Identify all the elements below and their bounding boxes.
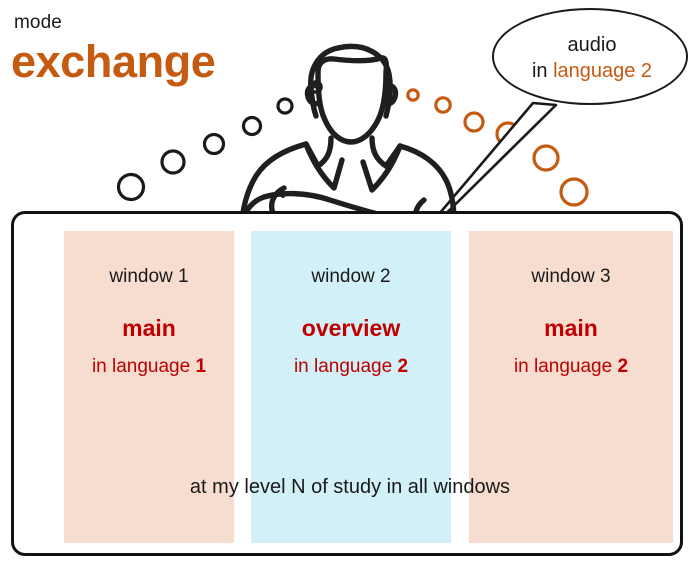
- level-note: at my level N of study in all windows: [14, 476, 686, 499]
- orange-thought-bubbles: [408, 90, 587, 205]
- diagram-canvas: mode exchange: [0, 0, 694, 564]
- window-1-language: in language 1: [64, 357, 234, 378]
- speech-bubble-text: audio in language 2: [494, 10, 690, 107]
- window-2-kind: overview: [251, 316, 451, 341]
- speech-bubble-line-2-highlight: language 2: [553, 60, 652, 82]
- window-3-title: window 3: [469, 267, 673, 288]
- window-3-kind: main: [469, 316, 673, 341]
- window-3-language-number: 2: [617, 356, 628, 377]
- mode-kicker-label: mode: [14, 12, 62, 34]
- window-3-language: in language 2: [469, 357, 673, 378]
- speech-bubble-line-2-prefix: in: [532, 60, 553, 82]
- audio-speech-bubble: audio in language 2: [492, 8, 688, 105]
- speech-bubble-line-2: in language 2: [532, 59, 652, 85]
- window-2-language-number: 2: [397, 356, 408, 377]
- window-1-kind: main: [64, 316, 234, 341]
- window-1-language-number: 1: [195, 356, 206, 377]
- window-2-language: in language 2: [251, 357, 451, 378]
- windows-container: window 1 main in language 1 window 2 ove…: [11, 211, 683, 556]
- window-3-language-prefix: in language: [514, 356, 618, 377]
- black-thought-bubbles: [119, 82, 322, 200]
- mode-title: exchange: [11, 36, 215, 88]
- window-1-language-prefix: in language: [92, 356, 196, 377]
- window-1-title: window 1: [64, 267, 234, 288]
- window-2-title: window 2: [251, 267, 451, 288]
- window-2-language-prefix: in language: [294, 356, 398, 377]
- speech-bubble-line-1: audio: [568, 33, 617, 59]
